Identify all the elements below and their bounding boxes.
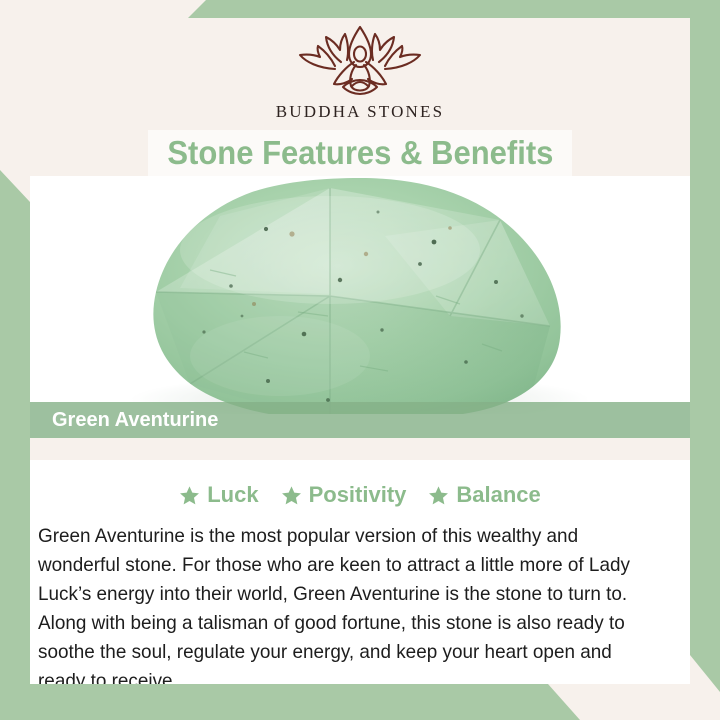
lotus-meditating-figure-icon [294,24,426,100]
green-aventurine-stone-image [30,176,690,414]
frame-accent-left [0,170,30,720]
stone-description-text: Green Aventurine is the most popular ver… [38,522,663,684]
stone-photo [30,176,690,414]
stone-name-label: Green Aventurine [52,409,218,432]
header: BUDDHA STONES Stone Features & Benefits [30,18,690,176]
benefit-item-luck: Luck [179,482,258,508]
benefit-item-positivity: Positivity [281,482,407,508]
star-icon [179,485,200,506]
page-title: Stone Features & Benefits [167,134,553,172]
benefits-row: Luck Positivity Balance [30,482,690,508]
infographic-page: BUDDHA STONES Stone Features & Benefits [0,0,720,720]
star-icon [428,485,449,506]
benefit-label: Luck [207,482,258,508]
divider-strip [30,438,690,460]
star-icon [281,485,302,506]
page-title-banner: Stone Features & Benefits [148,130,572,176]
description-section: Luck Positivity Balance Green Aventurine… [30,460,690,684]
frame-accent-right [690,0,720,692]
content-card: BUDDHA STONES Stone Features & Benefits [30,18,690,684]
benefit-item-balance: Balance [428,482,540,508]
brand-logo: BUDDHA STONES [30,24,690,122]
benefit-label: Positivity [309,482,407,508]
benefit-label: Balance [456,482,540,508]
stone-name-band: Green Aventurine [30,402,690,438]
frame-accent-bottom [0,684,720,720]
brand-wordmark: BUDDHA STONES [276,102,445,122]
